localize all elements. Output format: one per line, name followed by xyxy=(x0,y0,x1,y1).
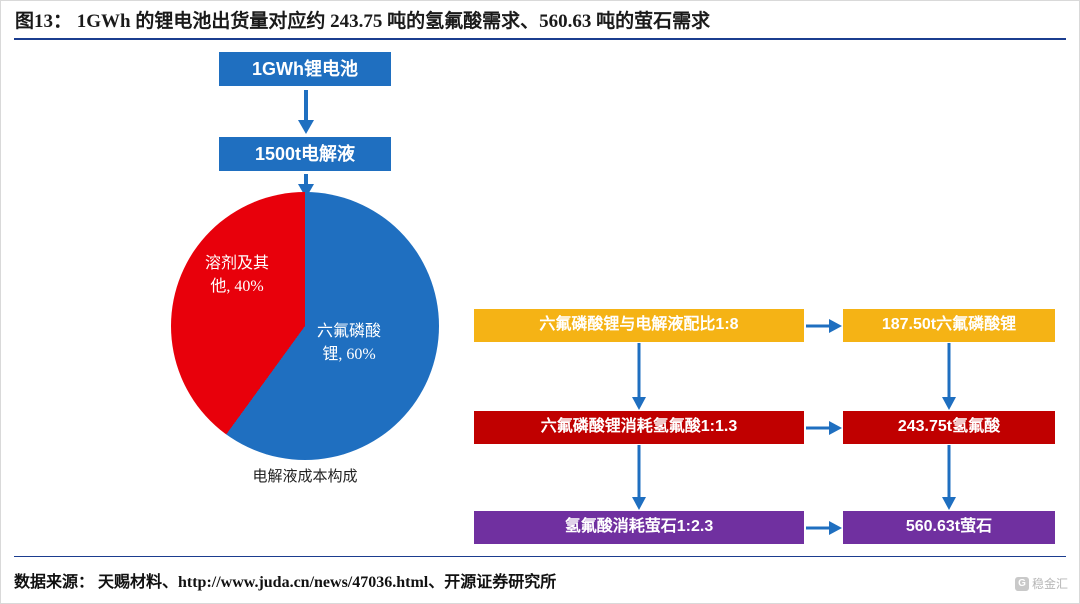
arrow-down-ratio-hf-to-ratio-fluorite xyxy=(629,445,649,510)
flow-box-source: 1GWh锂电池 xyxy=(219,52,391,86)
pie-label-lipf6: 六氟磷酸 锂, 60% xyxy=(306,320,392,366)
arrow-right-lipf6 xyxy=(806,316,842,336)
flow-box-ratio-fluorite: 氢氟酸消耗萤石1:2.3 xyxy=(474,511,804,544)
arrow-down-output-hf-to-output-fluorite xyxy=(939,445,959,510)
footer-divider xyxy=(14,556,1066,557)
flow-box-electrolyte: 1500t电解液 xyxy=(219,137,391,171)
watermark-label: 稳金汇 xyxy=(1032,575,1068,592)
title-divider xyxy=(14,38,1066,40)
page-title: 图13： 1GWh 的锂电池出货量对应约 243.75 吨的氢氟酸需求、560.… xyxy=(1,6,710,33)
flow-box-output-fluorite: 560.63t萤石 xyxy=(843,511,1055,544)
flow-box-ratio-lipf6: 六氟磷酸锂与电解液配比1:8 xyxy=(474,309,804,342)
arrow-down-ratio-lipf6-to-ratio-hf xyxy=(629,343,649,410)
pie-label-solvent: 溶剂及其 他, 40% xyxy=(194,252,280,298)
watermark-logo-icon: G xyxy=(1015,577,1029,591)
pie-label-solvent-line2: 他, 40% xyxy=(194,275,280,298)
pie-label-solvent-line1: 溶剂及其 xyxy=(194,252,280,275)
flow-box-output-lipf6: 187.50t六氟磷酸锂 xyxy=(843,309,1055,342)
flow-box-ratio-hf: 六氟磷酸锂消耗氢氟酸1:1.3 xyxy=(474,411,804,444)
arrow-right-hf xyxy=(806,418,842,438)
figure-title-bar: 图13： 1GWh 的锂电池出货量对应约 243.75 吨的氢氟酸需求、560.… xyxy=(1,1,1079,37)
pie-slices xyxy=(171,192,439,460)
arrow-down-source-to-electrolyte xyxy=(296,90,316,134)
figure-source: 数据来源： 天赐材料、http://www.juda.cn/news/47036… xyxy=(14,565,1066,595)
watermark: G 稳金汇 xyxy=(1015,575,1068,592)
arrow-right-fluorite xyxy=(806,518,842,538)
pie-label-lipf6-line2: 锂, 60% xyxy=(306,343,392,366)
electrolyte-cost-pie-chart: 六氟磷酸 锂, 60% 溶剂及其 他, 40% 电解液成本构成 xyxy=(146,192,464,482)
pie-chart-caption: 电解液成本构成 xyxy=(146,465,464,486)
flow-box-output-hf: 243.75t氢氟酸 xyxy=(843,411,1055,444)
arrow-down-output-lipf6-to-output-hf xyxy=(939,343,959,410)
pie-label-lipf6-line1: 六氟磷酸 xyxy=(306,320,392,343)
